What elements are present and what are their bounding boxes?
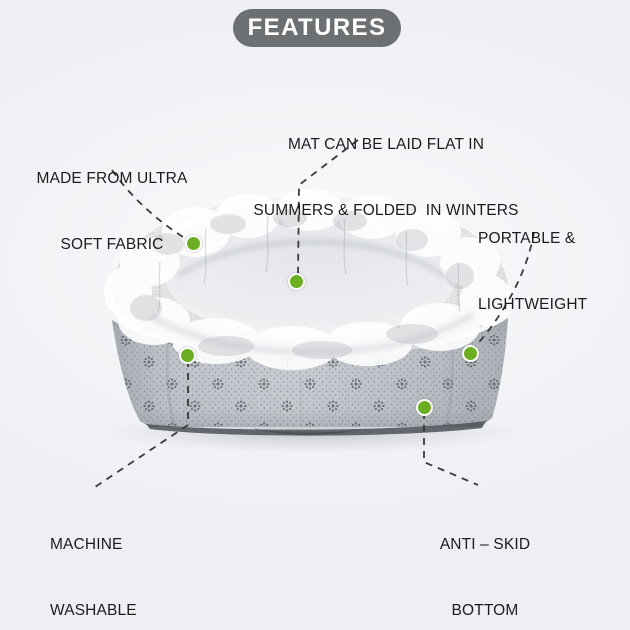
feature-label-ultra-soft-fabric: MADE FROM ULTRA SOFT FABRIC [12,124,212,300]
feature-label-line: LIGHTWEIGHT [478,294,628,316]
feature-label-line: SOFT FABRIC [12,234,212,256]
feature-marker-mat-laid-flat[interactable] [288,273,305,290]
feature-marker-portable-lightweight[interactable] [462,345,479,362]
feature-label-machine-washable: MACHINE WASHABLE [50,490,230,630]
feature-marker-ultra-soft-fabric[interactable] [185,235,202,252]
feature-label-line: MAT CAN BE LAID FLAT IN [226,134,546,156]
feature-label-line: MADE FROM ULTRA [12,168,212,190]
infographic-canvas: FEATURES [0,0,630,630]
feature-marker-machine-washable[interactable] [179,347,196,364]
feature-marker-anti-skid-bottom[interactable] [416,399,433,416]
feature-label-line: MACHINE [50,534,230,556]
feature-label-portable-lightweight: PORTABLE & LIGHTWEIGHT [478,184,628,360]
feature-label-line: PORTABLE & [478,228,628,250]
feature-label-line: ANTI – SKID [400,534,570,556]
feature-label-line: BOTTOM [400,600,570,622]
feature-label-line: WASHABLE [50,600,230,622]
feature-label-anti-skid-bottom: ANTI – SKID BOTTOM [400,490,570,630]
